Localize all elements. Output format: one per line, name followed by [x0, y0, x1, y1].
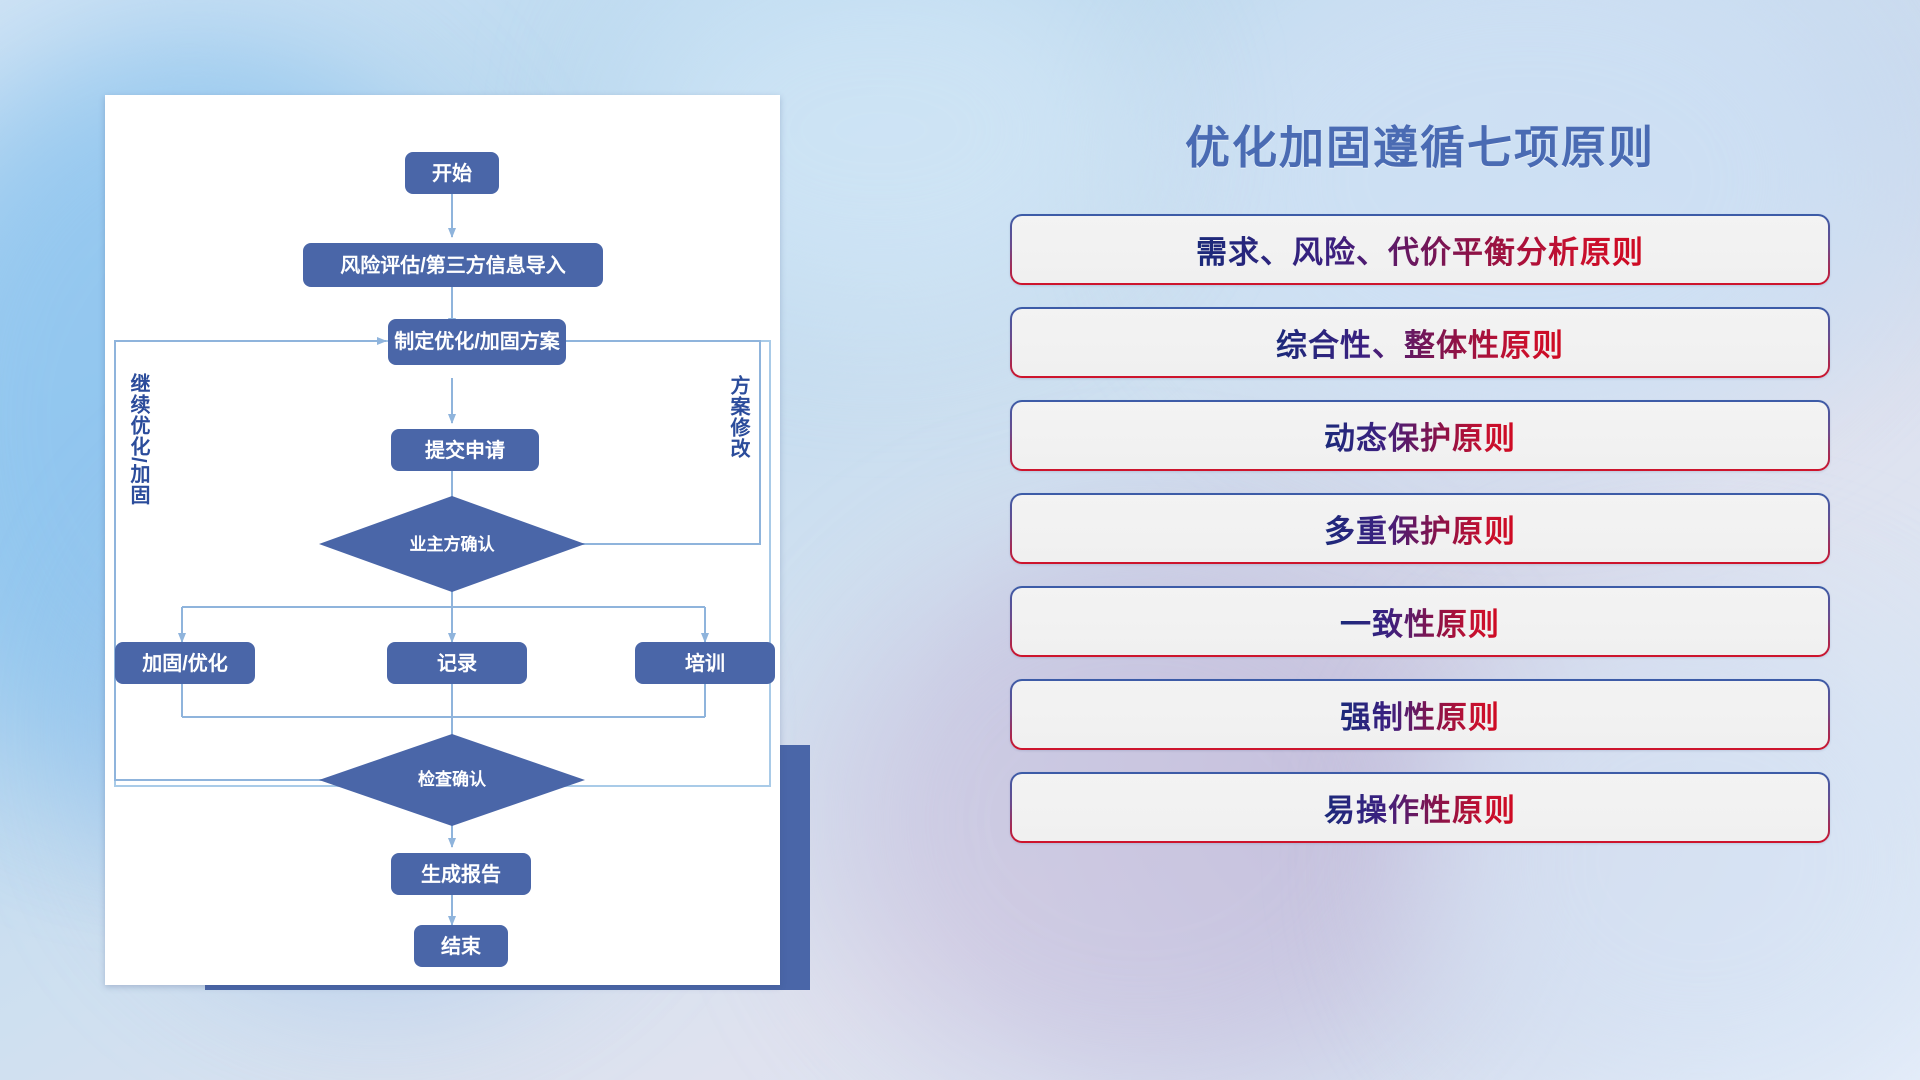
- flow-loop-label-left: 继续优化/加固: [127, 373, 148, 506]
- principles-panel: 优化加固遵循七项原则 需求、风险、代价平衡分析原则 综合性、整体性原则 动态保护…: [1010, 95, 1830, 1005]
- principle-item[interactable]: 强制性原则: [1010, 679, 1830, 750]
- principle-item[interactable]: 动态保护原则: [1010, 400, 1830, 471]
- panel-title: 优化加固遵循七项原则: [1010, 111, 1830, 176]
- principle-label: 强制性原则: [1340, 692, 1500, 737]
- principle-label: 易操作性原则: [1324, 785, 1516, 830]
- principle-label: 多重保护原则: [1324, 506, 1516, 551]
- flowchart-card: 开始 风险评估/第三方信息导入 制定优化/加固方案 提交申请 业主方确认 加固/…: [105, 95, 780, 985]
- principle-item[interactable]: 综合性、整体性原则: [1010, 307, 1830, 378]
- principle-label: 动态保护原则: [1324, 413, 1516, 458]
- flowchart-diagram: [105, 95, 780, 985]
- principle-label: 一致性原则: [1340, 599, 1500, 644]
- principle-item[interactable]: 一致性原则: [1010, 586, 1830, 657]
- principle-item[interactable]: 易操作性原则: [1010, 772, 1830, 843]
- principle-item[interactable]: 需求、风险、代价平衡分析原则: [1010, 214, 1830, 285]
- flow-loop-label-right: 方案修改: [727, 375, 748, 459]
- principle-label: 综合性、整体性原则: [1276, 320, 1564, 365]
- principle-item[interactable]: 多重保护原则: [1010, 493, 1830, 564]
- principles-list: 需求、风险、代价平衡分析原则 综合性、整体性原则 动态保护原则 多重保护原则 一…: [1010, 214, 1830, 843]
- principle-label: 需求、风险、代价平衡分析原则: [1196, 227, 1644, 272]
- slide-root: 开始 风险评估/第三方信息导入 制定优化/加固方案 提交申请 业主方确认 加固/…: [0, 0, 1920, 1080]
